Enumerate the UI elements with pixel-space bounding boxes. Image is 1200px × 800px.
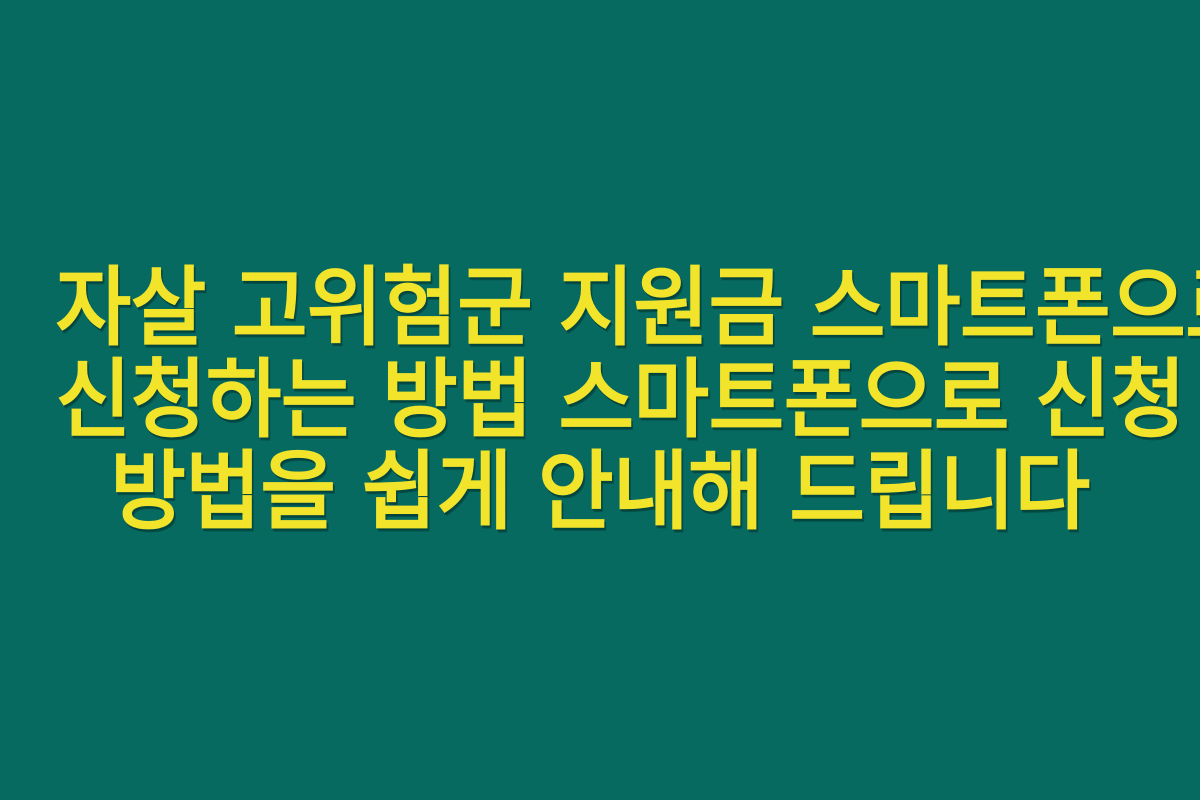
page-title: 자살 고위험군 지원금 스마트폰으로 신청하는 방법 스마트폰으로 신청 방법을… xyxy=(56,262,1145,538)
headline-line-1: 자살 고위험군 지원금 스마트폰으로 xyxy=(56,262,1145,354)
headline-line-2: 신청하는 방법 스마트폰으로 신청 xyxy=(56,354,1145,446)
headline-line-3: 방법을 쉽게 안내해 드립니다 xyxy=(56,446,1145,538)
banner-canvas: 자살 고위험군 지원금 스마트폰으로 신청하는 방법 스마트폰으로 신청 방법을… xyxy=(0,0,1200,800)
